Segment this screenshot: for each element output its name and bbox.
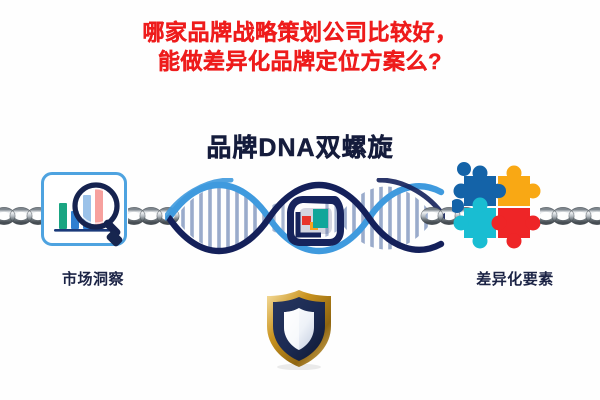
emblem-teal-block (313, 209, 328, 228)
puzzle-label: 差异化要素 (440, 268, 590, 289)
headline-line-2: 能做差异化品牌定位方案么? (0, 47, 600, 76)
page-title: 哪家品牌战略策划公司比较好， 能做差异化品牌定位方案么? (0, 18, 600, 76)
shield-icon (262, 288, 336, 370)
emblem-red-block (302, 216, 311, 225)
market-insight-icon (38, 168, 138, 258)
headline-line-1: 哪家品牌战略策划公司比较好， (0, 18, 600, 47)
brand-spiral-emblem-icon (285, 192, 347, 248)
bar-1 (59, 203, 67, 229)
market-insight-label: 市场洞察 (18, 268, 168, 289)
magnifier-icon (75, 185, 124, 248)
chain-right-outer (540, 203, 600, 229)
poster-canvas: 哪家品牌战略策划公司比较好， 能做差异化品牌定位方案么? 品牌DNA双螺旋 (0, 0, 600, 400)
